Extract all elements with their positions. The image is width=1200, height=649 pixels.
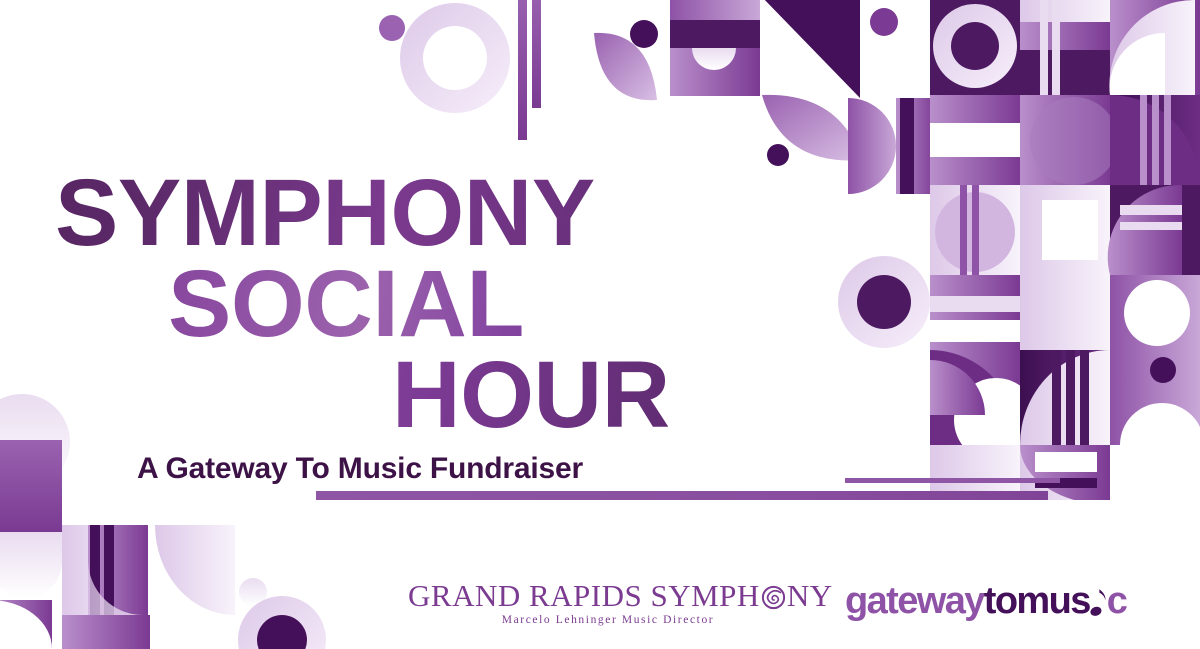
- vertical-bar-shape: [532, 0, 541, 108]
- gateway-wordmark-gateway: gateway: [845, 580, 984, 622]
- gateway-to-music-logo: gatewaytomus c: [845, 582, 1126, 620]
- gateway-wordmark-c: c: [1107, 580, 1127, 622]
- subtitle-text: A Gateway To Music Fundraiser: [137, 452, 583, 486]
- eighth-note-icon: [1090, 585, 1107, 619]
- half-round-shape: [848, 98, 896, 194]
- bottom-left-decoration: [0, 394, 326, 649]
- bar-shape: [900, 98, 914, 194]
- gateway-wordmark-tomus: tomus: [984, 580, 1090, 622]
- dot-shape: [767, 144, 789, 166]
- symphony-swirl-icon: [761, 584, 786, 609]
- dot-shape: [630, 20, 658, 48]
- poster-canvas: SYMPHONY SOCIAL HOUR A Gateway To Music …: [0, 0, 1200, 649]
- right-tile-grid: [930, 0, 1200, 505]
- dot-shape: [379, 15, 405, 41]
- symphony-logo-wordmark: GRAND RAPIDS SYMPH NY: [408, 580, 808, 611]
- accent-rule-thin: [845, 478, 1060, 483]
- ring-shape: [838, 256, 930, 348]
- ring-shape: [400, 3, 510, 113]
- triangle-shape: [760, 0, 860, 98]
- decorative-geometry: [0, 0, 1200, 649]
- symphony-wordmark-part2: NY: [787, 578, 833, 613]
- grand-rapids-symphony-logo: GRAND RAPIDS SYMPH NY Marcelo Lehninger …: [408, 580, 808, 626]
- dot-shape: [870, 8, 898, 36]
- symphony-wordmark-part1: GRAND RAPIDS SYMPH: [408, 578, 760, 613]
- vertical-bar-shape: [518, 0, 527, 140]
- accent-rule-thick: [316, 491, 1048, 500]
- stacked-blocks-shape: [670, 0, 760, 96]
- symphony-logo-tagline: Marcelo Lehninger Music Director: [408, 614, 808, 626]
